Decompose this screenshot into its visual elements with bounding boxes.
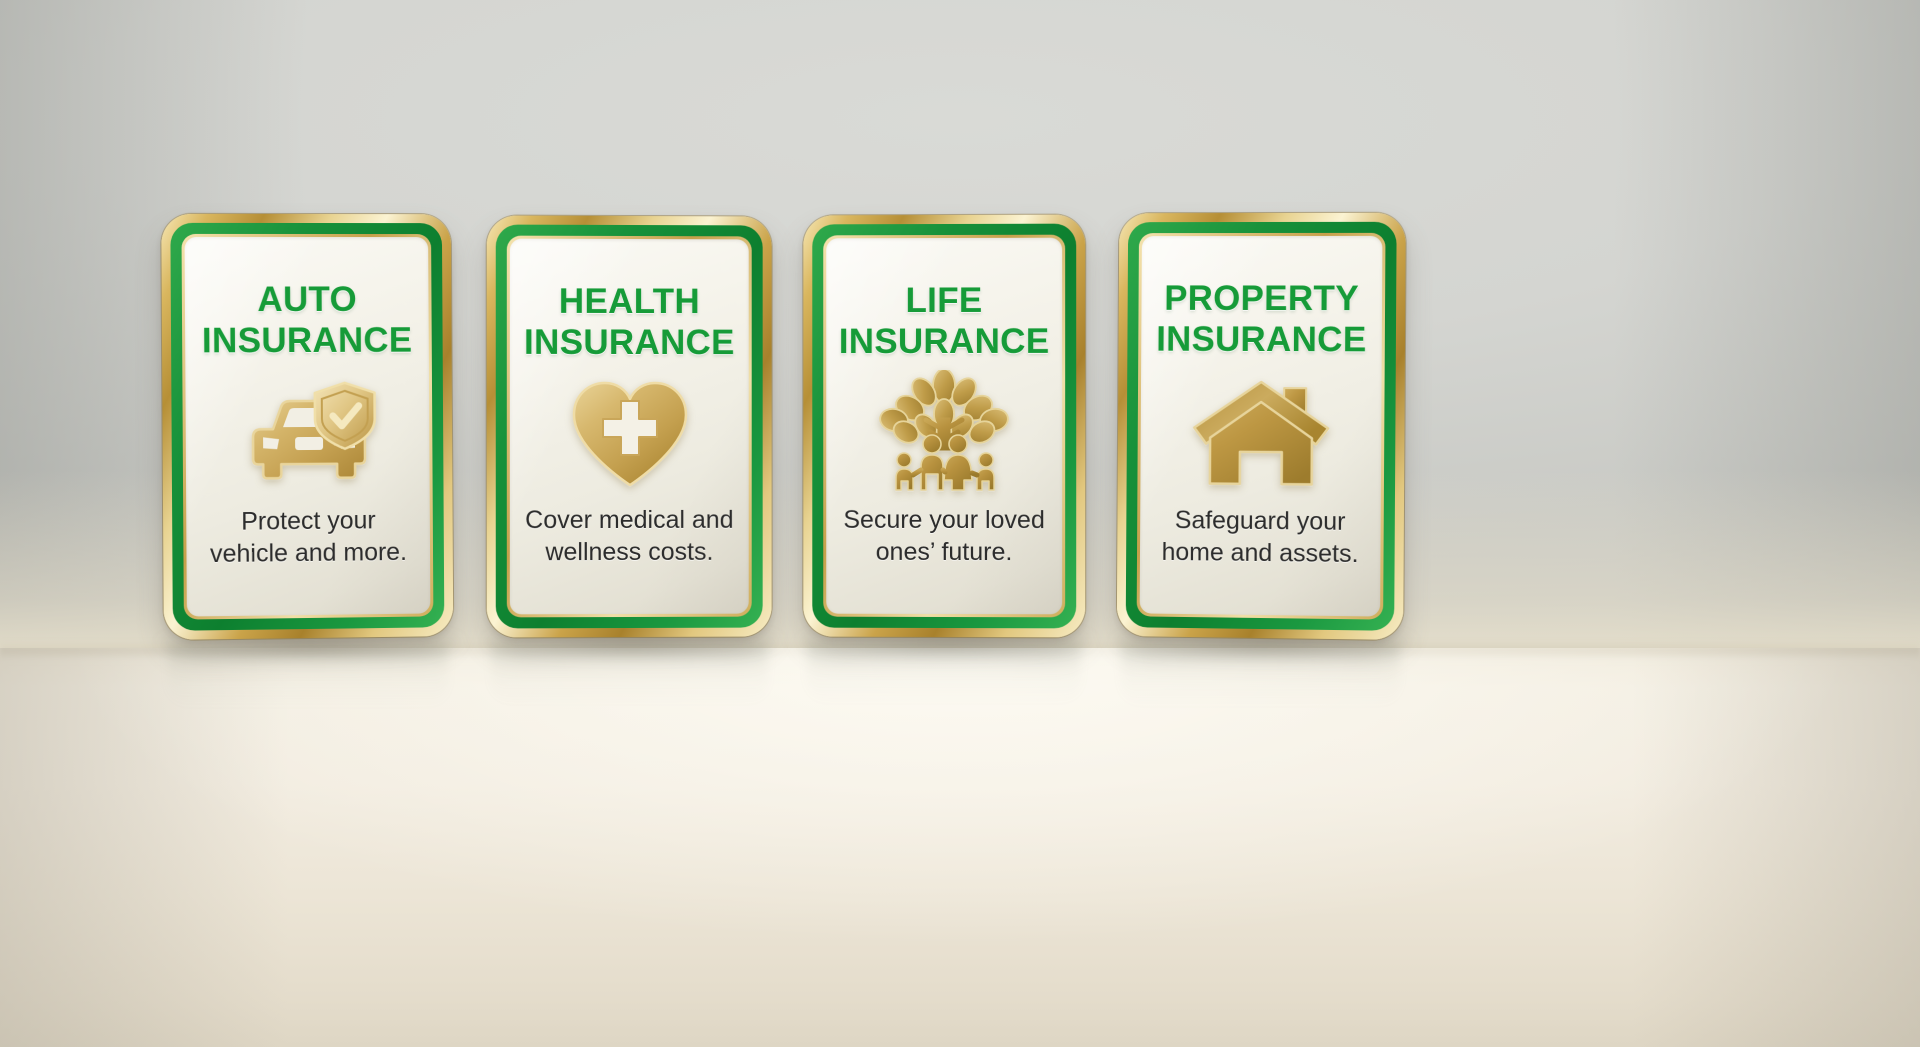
card-title: PROPERTY INSURANCE — [1156, 278, 1367, 360]
card-subtitle: Cover medical and wellness costs. — [525, 504, 733, 568]
card-face: AUTO INSURANCE — [185, 237, 431, 617]
card-subtitle: Secure your loved ones’ future. — [843, 504, 1044, 568]
card-face: PROPERTY INSURANCE — [1140, 236, 1383, 617]
insurance-card-health[interactable]: HEALTH INSURANCE Cover medical a — [487, 216, 772, 638]
card-subtitle: Safeguard your home and assets. — [1162, 504, 1359, 570]
card-icon — [826, 362, 1062, 504]
card-icon — [510, 363, 749, 504]
house-icon — [1187, 375, 1333, 490]
insurance-card-scene: AUTO INSURANCE — [0, 0, 1920, 1047]
insurance-card-auto[interactable]: AUTO INSURANCE — [161, 214, 453, 640]
card-title: LIFE INSURANCE — [839, 280, 1050, 362]
car-shield-icon — [233, 375, 383, 492]
card-face: LIFE INSURANCE — [826, 238, 1062, 615]
card-icon — [1140, 360, 1381, 507]
card-subtitle: Protect your vehicle and more. — [210, 504, 407, 570]
heart-cross-icon — [565, 374, 693, 492]
insurance-card-life[interactable]: LIFE INSURANCE — [803, 215, 1085, 638]
card-face: HEALTH INSURANCE Cover medical a — [510, 239, 749, 615]
insurance-card-property[interactable]: PROPERTY INSURANCE — [1117, 213, 1406, 640]
card-icon — [185, 361, 429, 507]
tree-family-icon — [874, 370, 1014, 496]
card-title: AUTO INSURANCE — [202, 279, 413, 362]
card-title: HEALTH INSURANCE — [524, 281, 735, 363]
